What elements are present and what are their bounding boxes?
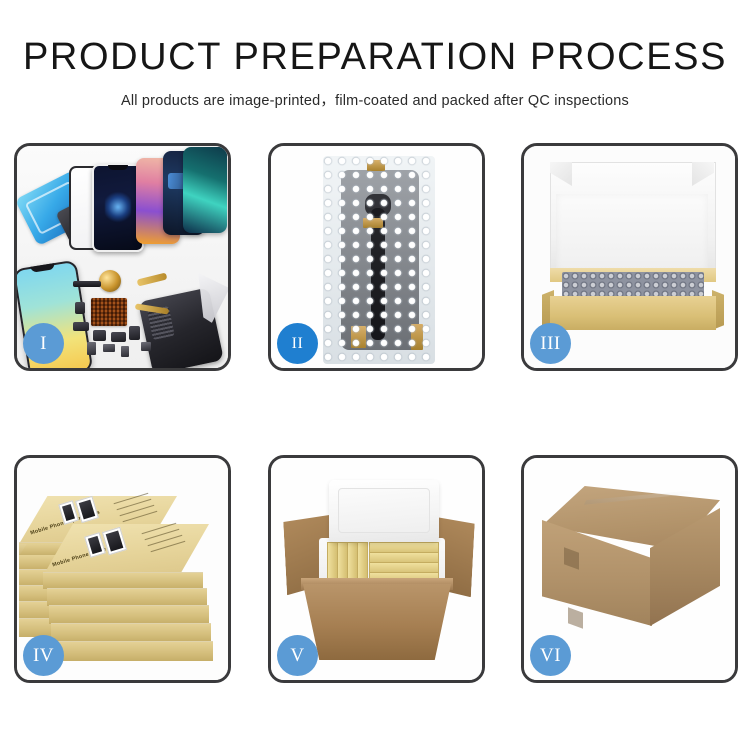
header: PRODUCT PREPARATION PROCESS All products… (0, 34, 750, 110)
small-part-a (75, 302, 85, 314)
product-preparation-infographic: PRODUCT PREPARATION PROCESS All products… (0, 0, 750, 750)
chip-grid-part (91, 298, 127, 326)
step-badge-1: I (23, 323, 64, 364)
step-panel-5: V (268, 455, 485, 683)
bubble-wrap-bag (323, 156, 435, 364)
earpiece-speaker-part (73, 281, 101, 287)
bubble-texture (323, 156, 435, 364)
step-panel-2: II (268, 143, 485, 371)
tiny-part-c (121, 346, 129, 357)
foam-box-lid (329, 480, 439, 542)
tiny-part-b (103, 344, 115, 352)
small-part-e (129, 326, 140, 340)
page-title: PRODUCT PREPARATION PROCESS (0, 34, 750, 80)
box-front-face (550, 296, 716, 330)
step-panel-1: I (14, 143, 231, 371)
step-panel-3: III (521, 143, 738, 371)
step-badge-6: VI (530, 635, 571, 676)
carton-front-face (303, 584, 451, 660)
step-badge-4: IV (23, 635, 64, 676)
step-badge-3: III (530, 323, 571, 364)
gold-coil-part (99, 270, 121, 292)
flex-cable-1 (137, 272, 168, 286)
small-part-d (111, 332, 126, 342)
step-badge-2: II (277, 323, 318, 364)
small-part-c (93, 330, 106, 341)
tiny-part-d (141, 342, 151, 351)
box-r2-side (47, 588, 207, 606)
teal-phone (183, 147, 227, 233)
page-subtitle: All products are image-printed，film-coat… (0, 89, 750, 110)
small-part-b (73, 322, 89, 331)
process-steps-grid: I II (0, 143, 750, 677)
step-panel-4: Mobile Phone Spare Parts Mobile Phone Sp… (14, 455, 231, 683)
box-r5-side (53, 641, 213, 661)
step-panel-6: VI (521, 455, 738, 683)
box-r4-side (51, 623, 211, 642)
white-foam-lining (556, 194, 708, 272)
tiny-part-a (87, 342, 96, 355)
carton-tape-lower (568, 607, 583, 628)
step-badge-5: V (277, 635, 318, 676)
box-r1-side (43, 572, 203, 589)
box-r3-side (49, 605, 209, 624)
